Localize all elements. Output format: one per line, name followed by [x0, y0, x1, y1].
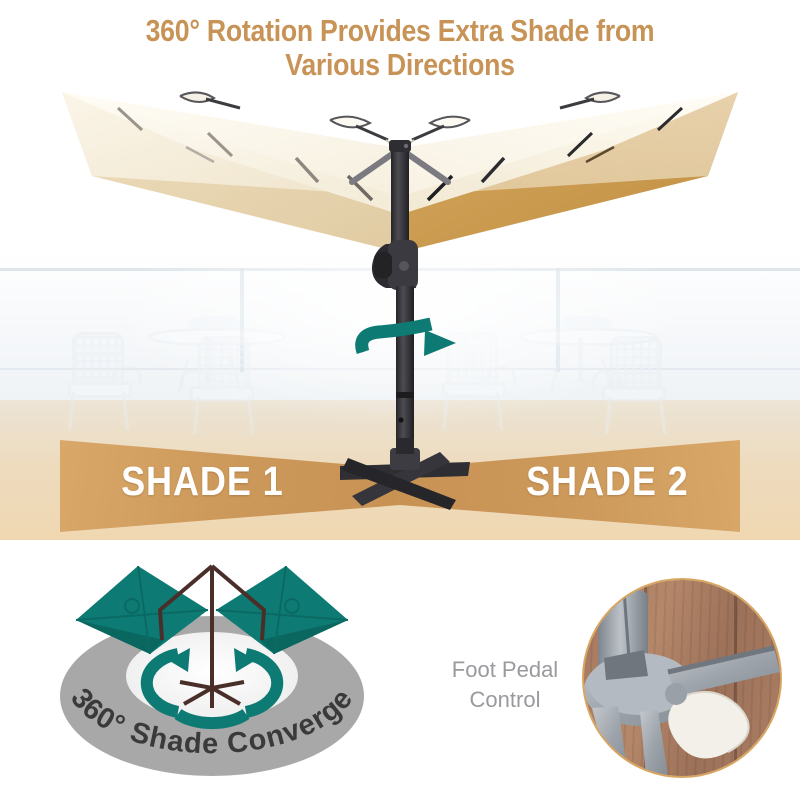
foot-pedal-hardware	[584, 580, 780, 776]
product-infographic: SHADE 1 SHADE 2	[0, 0, 800, 800]
cantilever-umbrella-illustration	[0, 0, 800, 560]
foot-pedal-photo	[582, 578, 782, 778]
umbrella-cross-base	[340, 438, 470, 510]
foot-pedal-caption: Foot Pedal Control	[420, 655, 590, 715]
canopy-left	[62, 92, 398, 252]
canopy-right	[402, 92, 738, 252]
shade-converge-badge: 360° Shade Converge	[32, 548, 392, 788]
foot-pedal-caption-line-2: Control	[420, 685, 590, 715]
tilt-joint	[372, 240, 418, 290]
foot-pedal-caption-line-1: Foot Pedal	[420, 655, 590, 685]
